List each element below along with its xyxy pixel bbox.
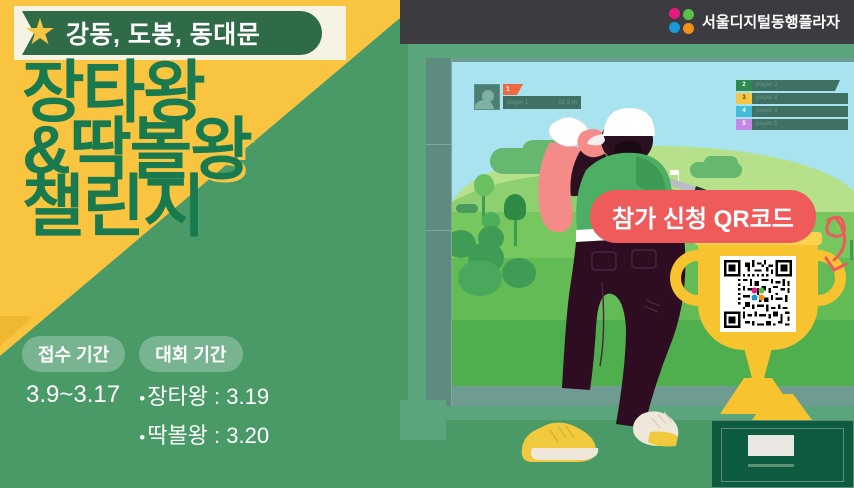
simulator-side-panel [426, 58, 452, 406]
leaderboard-name: player 5 [752, 119, 848, 130]
competition-date-text: 장타왕 : 3.19 [147, 384, 269, 409]
region-badge-label: 강동, 도봉, 동대문 [66, 11, 260, 55]
promo-poster: ★ 강동, 도봉, 동대문 장타왕 &딱볼왕 챌린지 접수 기간 3.9~3.1… [0, 0, 854, 488]
brand-topbar: 서울디지털동행플라자 [400, 0, 854, 44]
title-line-3: 챌린지 [22, 176, 362, 239]
competition-date-item: •딱볼왕 : 3.20 [139, 418, 269, 450]
bush-shape [704, 156, 738, 170]
leaderboard-name: player 2 [752, 80, 840, 91]
leaderboard-rank: 3 [736, 93, 752, 104]
qr-code-icon[interactable] [720, 256, 796, 332]
tree-foliage [474, 174, 494, 196]
hud-player-card: 1 player 1 52,5 m [474, 84, 500, 110]
qr-center-logo-icon [752, 288, 765, 301]
right-visual-panel: 서울디지털동행플라자 [400, 0, 854, 488]
application-period-label: 접수 기간 [22, 336, 125, 372]
ground-shadow [400, 400, 446, 440]
competition-period-label: 대회 기간 [139, 336, 242, 372]
page-title: 장타왕 &딱볼왕 챌린지 [22, 62, 362, 240]
left-content-panel: ★ 강동, 도봉, 동대문 장타왕 &딱볼왕 챌린지 접수 기간 3.9~3.1… [0, 0, 400, 488]
bush-shape [622, 178, 636, 184]
hud-player-score: 52,5 m [559, 100, 577, 106]
application-period-value: 3.9~3.17 [22, 381, 125, 409]
hud-player-name: player 1 [507, 100, 528, 106]
brand-logo: 서울디지털동행플라자 [669, 8, 840, 34]
player-avatar-icon [474, 84, 500, 110]
hud-leaderboard: 2 player 2 3 player 3 4 player 4 5 playe… [736, 80, 848, 132]
leaderboard-rank: 4 [736, 106, 752, 117]
hud-player-bar: player 1 52,5 m [503, 96, 581, 109]
pin-flag-icon [678, 170, 679, 188]
leaderboard-row: 3 player 3 [736, 93, 848, 104]
plaque-underline [748, 464, 794, 467]
brand-name: 서울디지털동행플라자 [702, 11, 840, 32]
logo-dots-icon [669, 8, 695, 34]
plaque-name-plate [748, 435, 794, 456]
trophy-icon [668, 228, 848, 408]
leaderboard-name: player 4 [752, 106, 848, 117]
qr-cta-badge[interactable]: 참가 신청 QR코드 [590, 190, 816, 243]
leaderboard-row: 4 player 4 [736, 106, 848, 117]
leaderboard-rank: 5 [736, 119, 752, 130]
leaderboard-row: 5 player 5 [736, 119, 848, 130]
bush-shape [502, 258, 536, 288]
schedule-section: 접수 기간 3.9~3.17 대회 기간 •장타왕 : 3.19 •딱볼왕 : … [22, 336, 372, 450]
bullet-icon: • [139, 389, 145, 408]
leaderboard-row: 2 player 2 [736, 80, 848, 91]
tree-foliage [504, 194, 526, 220]
competition-period-column: 대회 기간 •장타왕 : 3.19 •딱볼왕 : 3.20 [139, 336, 269, 450]
star-icon: ★ [22, 14, 58, 50]
pin-flag-cloth [670, 170, 678, 175]
competition-date-item: •장타왕 : 3.19 [139, 379, 269, 411]
bush-shape [552, 154, 592, 170]
bush-shape [456, 204, 478, 213]
trophy-stem [744, 348, 772, 382]
trophy-plaque [711, 420, 854, 488]
leaderboard-name: player 3 [752, 93, 848, 104]
competition-date-text: 딱볼왕 : 3.20 [147, 423, 269, 448]
application-period-column: 접수 기간 3.9~3.17 [22, 336, 125, 450]
leaderboard-rank: 2 [736, 80, 752, 91]
bullet-icon: • [139, 428, 145, 447]
bush-shape [458, 260, 502, 296]
